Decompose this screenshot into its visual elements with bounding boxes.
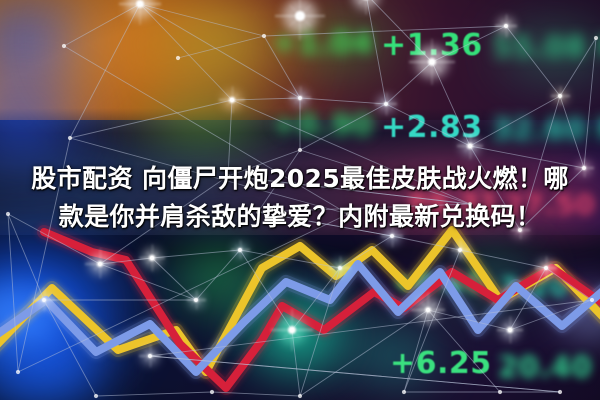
sparkle-star: [374, 92, 398, 116]
sparkle-star: [550, 86, 570, 106]
sparkle-star: [138, 344, 162, 368]
sparkle-star: [534, 256, 558, 280]
sparkle-star: [84, 248, 116, 280]
sparkle-star: [274, 0, 326, 42]
sparkle-star: [346, 0, 386, 16]
sparkle-star: [328, 256, 352, 280]
sparkle-star: [218, 86, 246, 114]
sparkle-star: [118, 0, 162, 26]
sparkle-star: [496, 316, 524, 344]
star-ray: [365, 0, 366, 15]
promo-banner: +1.04+1.3655.08 M+0.90+2.8332.60 M88.312…: [0, 0, 600, 400]
sparkle-star: [408, 38, 456, 86]
sparkle-star: [494, 14, 518, 38]
sparkle-star: [138, 244, 166, 272]
sparkle-star: [450, 240, 470, 260]
sparkle-star: [230, 240, 250, 260]
headline-line-1: 股市配资 向僵尸开炮2025最佳皮肤战火燃！哪: [0, 160, 600, 198]
sparkle-star: [288, 86, 312, 110]
sparkle-star: [410, 292, 446, 328]
sparkle-star: [186, 290, 206, 310]
sparkle-star: [270, 308, 314, 352]
headline-block: 股市配资 向僵尸开炮2025最佳皮肤战火燃！哪 款是你并肩杀敌的挚爱？内附最新兑…: [0, 160, 600, 236]
headline-line-2: 款是你并肩杀敌的挚爱？内附最新兑换码！: [0, 198, 600, 236]
sparkle-star: [456, 132, 484, 160]
sparkle-star: [32, 288, 56, 312]
